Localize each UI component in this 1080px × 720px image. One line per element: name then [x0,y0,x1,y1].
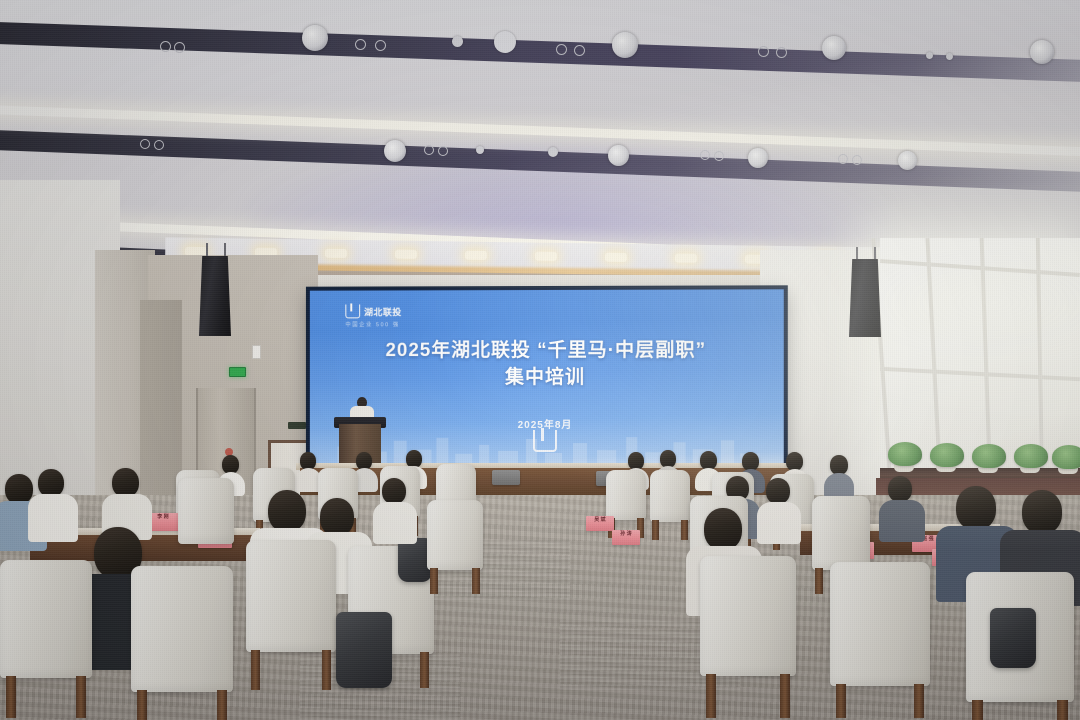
conference-room-screenshot: 湖北联投 中国企业 500 强 2025年湖北联投 “千里马·中层副职” 集中培… [0,0,1080,720]
chair-leg [836,684,846,718]
ceiling-sprinkler-icon [556,44,567,55]
downlight-icon [325,249,347,258]
company-logo: 湖北联投 [345,304,401,318]
name-card-text: 孙 涛 [612,530,640,537]
chair-leg [1057,700,1068,720]
attendee-torso [879,500,925,542]
name-card: 孙 涛 [612,530,640,545]
ceiling-vent-icon [822,36,846,60]
ceiling-sprinkler-icon [375,40,386,51]
ceiling-sprinkler-icon [140,139,150,149]
attendee-head [766,478,790,504]
chair-leg [780,674,790,718]
wall-switch-plate[interactable] [252,345,261,359]
downlight-icon [605,253,627,262]
attendee-head [320,498,354,536]
chair-back [427,500,483,570]
ceiling-vent-icon [384,140,406,162]
company-logo-text: 湖北联投 [364,305,402,318]
chair-back [0,560,92,678]
potted-plant-icon [1014,444,1048,468]
ceiling-speaker-icon [494,31,516,53]
chair-leg [251,650,260,690]
skyline-building [436,438,448,466]
potted-plant-icon [1052,445,1080,469]
chair-leg [706,674,716,718]
ceiling-sprinkler-icon [424,145,434,155]
attendee-head [1022,490,1062,534]
chair-back [178,478,234,544]
attendee-head [956,486,996,530]
ceiling-sprinkler-icon [574,45,585,56]
chair-leg [972,700,983,720]
ceiling-sprinkler-icon [174,42,185,53]
ceiling-vent-icon [612,32,638,58]
ceiling-downlight-icon [548,147,558,157]
ceiling-sprinkler-icon [700,150,710,160]
ceiling-sprinkler-icon [776,47,787,58]
audience-chair [427,500,483,570]
audience-chair [178,478,234,544]
attendee-head [888,476,912,502]
chair-leg [6,676,16,718]
ceiling-sprinkler-icon [714,151,724,161]
ceiling-sprinkler-icon [154,140,164,150]
ceiling-sprinkler-icon [355,39,366,50]
chair-back [700,556,796,676]
potted-plant-icon [972,444,1006,468]
chair-leg [76,676,86,718]
potted-plant-icon [930,443,964,467]
audience-chair [606,470,646,520]
audience-chair [650,470,690,522]
chair-leg [815,568,823,594]
hanging-speaker-left [199,256,231,336]
chair-leg [430,568,438,594]
chair-leg [217,690,227,720]
attendee-head [704,508,742,550]
downlight-icon [535,252,557,261]
ceiling-downlight-icon [476,146,484,154]
audience-chair [131,566,233,692]
attendee-head [38,469,64,497]
slide-title: 2025年湖北联投 “千里马·中层副职” 集中培训 [310,338,784,392]
ceiling-downlight-icon [452,36,463,47]
ceiling-sprinkler-icon [438,146,448,156]
attendee-torso [28,494,78,542]
slide-title-line-2: 集中培训 [310,365,784,392]
name-card-text: 吴 斌 [586,516,614,523]
ceiling-sensor-icon [926,52,933,59]
attendee-head [5,474,33,504]
chair-back [606,470,646,520]
ceiling-vent-icon [1030,40,1054,64]
chair-back [246,540,336,652]
hanging-speaker-right [849,259,881,337]
ceiling-sprinkler-icon [160,41,171,52]
chair-leg [322,650,331,690]
potted-plant-icon [888,442,922,466]
attendee-head [382,478,406,504]
chair-back [131,566,233,692]
audience-chair [812,496,870,570]
audience-chair [700,556,796,676]
exit-sign-icon [229,367,246,377]
downlight-icon [675,254,697,263]
ceiling-vent-icon [898,151,917,170]
chair-leg [681,520,688,540]
door-header-equipment [288,422,306,429]
name-card: 吴 斌 [586,516,614,531]
ceiling-sprinkler-icon [852,155,862,165]
skyline-building [394,441,406,466]
ceiling-vent-icon [608,145,629,166]
audience-chair [830,562,930,686]
attendee-head [112,468,139,497]
stage-monitor-icon [492,470,520,485]
skyline-building [526,439,537,466]
chair-back [812,496,870,570]
ceiling-vent-icon [748,148,768,168]
slide-title-line-1: 2025年湖北联投 “千里马·中层副职” [310,338,784,365]
backpack [336,612,392,688]
chair-back [650,470,690,522]
backpack [990,608,1036,668]
ceiling-sensor-icon [946,53,953,60]
attendee-head [830,455,848,475]
attendee-head [268,490,306,532]
ceiling-vent-icon [302,25,328,51]
ceiling-sprinkler-icon [838,154,848,164]
audience-chair [246,540,336,652]
window-transom [880,367,1080,381]
chair-leg [652,520,659,540]
chair-leg [420,652,429,688]
downlight-icon [395,250,417,259]
hubei-liantou-logo-icon [345,304,360,318]
chair-leg [914,684,924,718]
audience-chair [0,560,92,678]
chair-back [830,562,930,686]
ceiling-sprinkler-icon [758,46,769,57]
company-logo-subtitle: 中国企业 500 强 [345,320,399,328]
downlight-icon [465,251,487,260]
attendee-torso [757,502,801,544]
chair-leg [472,568,480,594]
attendee-torso [373,502,417,544]
chair-leg [137,690,147,720]
